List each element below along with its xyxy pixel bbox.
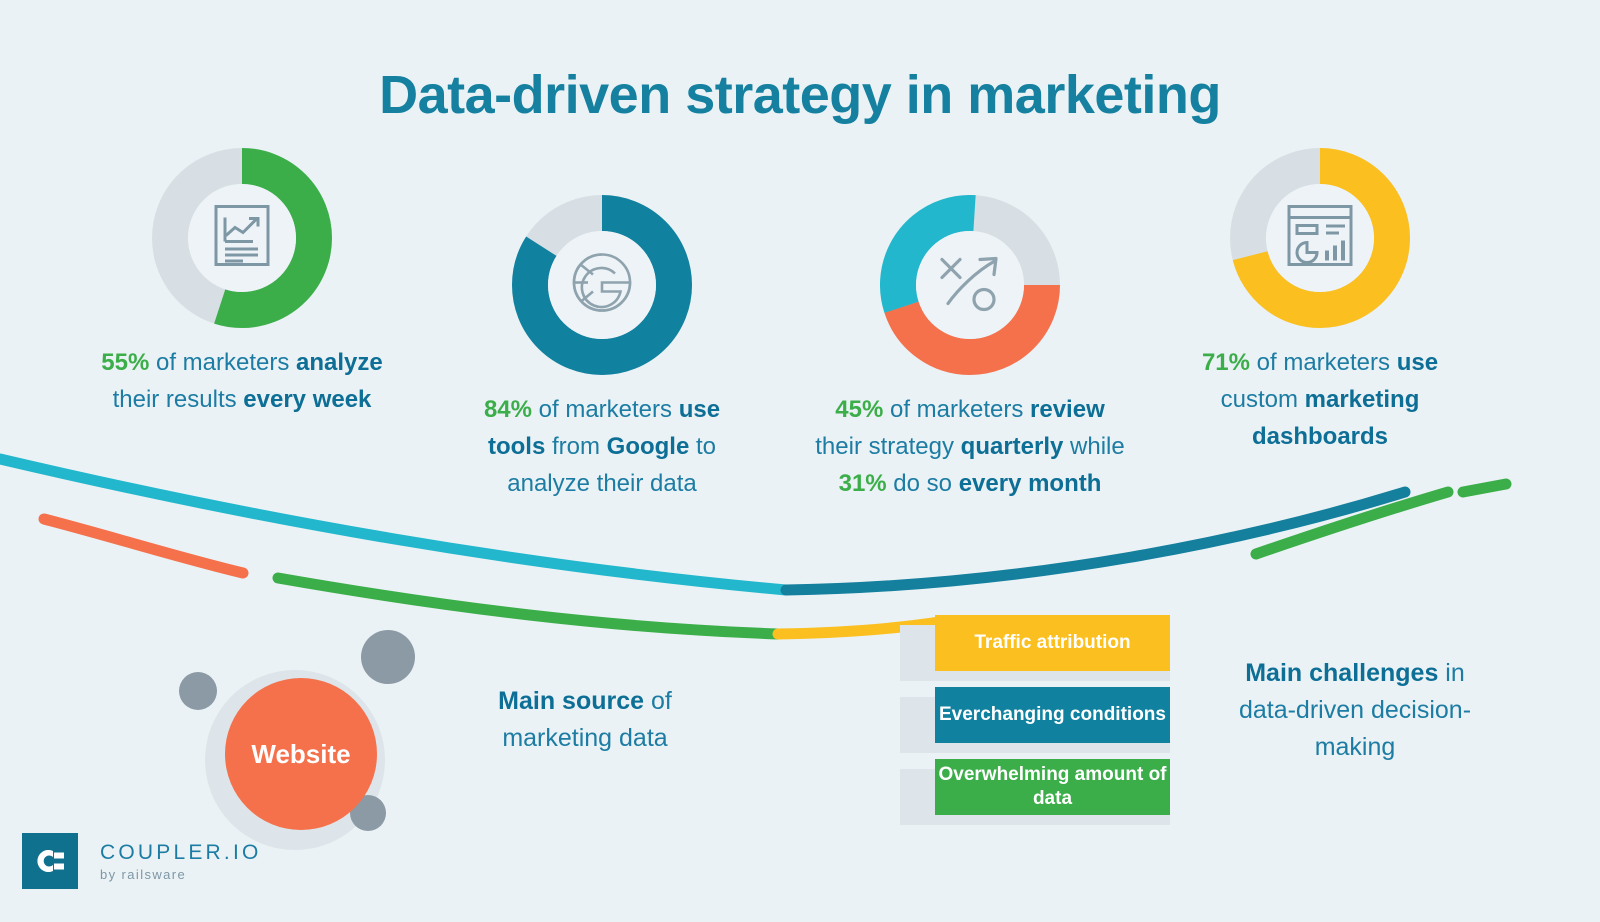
decorative-dot bbox=[179, 672, 217, 710]
challenges-description: Main challenges in data-driven decision-… bbox=[1215, 655, 1495, 766]
stat-percent: 71% bbox=[1202, 349, 1250, 376]
stat-caption-review-strategy: 45% of marketers review their strategy q… bbox=[810, 391, 1130, 502]
bar-label: Everchanging conditions bbox=[939, 703, 1166, 727]
bar-label: Traffic attribution bbox=[974, 631, 1130, 655]
stat-percent-secondary: 31% bbox=[839, 470, 887, 497]
stat-caption-google-tools: 84% of marketers use tools from Google t… bbox=[452, 391, 752, 502]
decorative-dot bbox=[361, 630, 415, 684]
donut-chart-google-tools bbox=[512, 195, 692, 375]
bar-row: Traffic attribution bbox=[900, 615, 1170, 683]
bar-overwhelming-amount-of-data: Overwhelming amount of data bbox=[935, 759, 1170, 815]
donut-chart-review-strategy bbox=[880, 195, 1060, 375]
report-chart-icon bbox=[213, 204, 271, 273]
website-bubble-label: Website bbox=[251, 739, 350, 770]
dashboard-icon bbox=[1287, 205, 1353, 272]
stat-caption-analyze-weekly: 55% of marketers analyze their results e… bbox=[92, 344, 392, 418]
google-g-icon bbox=[566, 247, 638, 324]
stat-block-google-tools: 84% of marketers use tools from Google t… bbox=[452, 195, 752, 502]
stat-block-analyze-weekly: 55% of marketers analyze their results e… bbox=[92, 148, 392, 418]
bar-label: Overwhelming amount of data bbox=[935, 763, 1170, 811]
bar-row: Everchanging conditions bbox=[900, 687, 1170, 755]
strategy-icon bbox=[934, 252, 1006, 319]
website-bubble: Website bbox=[225, 678, 377, 830]
bar-traffic-attribution: Traffic attribution bbox=[935, 615, 1170, 671]
logo-subtitle: by railsware bbox=[100, 867, 262, 882]
stat-percent: 55% bbox=[101, 349, 149, 376]
donut-chart-custom-dashboards bbox=[1230, 148, 1410, 328]
challenges-bar-chart: Traffic attribution Everchanging conditi… bbox=[900, 615, 1200, 835]
donut-chart-analyze-weekly bbox=[152, 148, 332, 328]
stat-block-review-strategy: 45% of marketers review their strategy q… bbox=[810, 195, 1130, 502]
bar-everchanging-conditions: Everchanging conditions bbox=[935, 687, 1170, 743]
infographic-canvas: Data-driven strategy in marketing bbox=[0, 0, 1600, 922]
page-title: Data-driven strategy in marketing bbox=[0, 64, 1600, 126]
stat-block-custom-dashboards: 71% of marketers use custom marketing da… bbox=[1170, 148, 1470, 455]
website-bubble-cluster: Website bbox=[165, 630, 425, 860]
stat-percent: 84% bbox=[484, 396, 532, 423]
stat-caption-custom-dashboards: 71% of marketers use custom marketing da… bbox=[1170, 344, 1470, 455]
coupler-logo[interactable]: COUPLER.IO by railsware bbox=[22, 833, 262, 889]
stat-percent: 45% bbox=[835, 396, 883, 423]
logo-name: COUPLER.IO bbox=[100, 841, 262, 865]
logo-text-block: COUPLER.IO by railsware bbox=[100, 841, 262, 882]
coupler-plug-icon bbox=[22, 833, 78, 889]
bar-row: Overwhelming amount of data bbox=[900, 759, 1170, 827]
main-source-description: Main source of marketing data bbox=[440, 683, 730, 757]
